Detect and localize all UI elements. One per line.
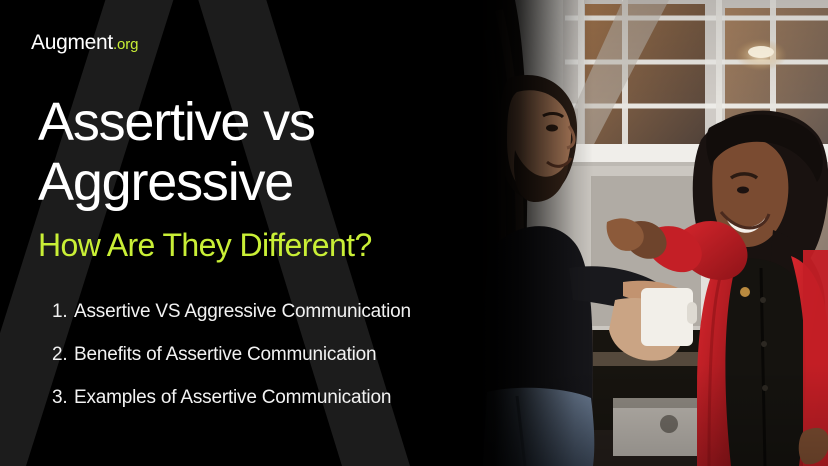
slide-title: Assertive vs Aggressive <box>38 92 508 212</box>
slide-subtitle: How Are They Different? <box>38 226 508 264</box>
presentation-slide: Augment .org Assertive vs Aggressive How… <box>0 0 828 466</box>
agenda-item-label: Examples of Assertive Communication <box>74 386 391 410</box>
brand-logo-name: Augment <box>31 31 113 55</box>
agenda-item-number: 2. <box>52 343 74 367</box>
agenda-item-number: 1. <box>52 300 74 324</box>
brand-logo-suffix: .org <box>113 36 138 53</box>
slide-content: Assertive vs Aggressive How Are They Dif… <box>38 92 508 429</box>
agenda-item-number: 3. <box>52 386 74 410</box>
agenda-item-label: Benefits of Assertive Communication <box>74 343 376 367</box>
agenda-item-label: Assertive VS Aggressive Communication <box>74 300 411 324</box>
list-item: 1. Assertive VS Aggressive Communication <box>38 300 508 324</box>
list-item: 3. Examples of Assertive Communication <box>38 386 508 410</box>
agenda-list: 1. Assertive VS Aggressive Communication… <box>38 300 508 410</box>
hero-photo <box>473 0 828 466</box>
list-item: 2. Benefits of Assertive Communication <box>38 343 508 367</box>
brand-logo[interactable]: Augment .org <box>31 31 138 55</box>
